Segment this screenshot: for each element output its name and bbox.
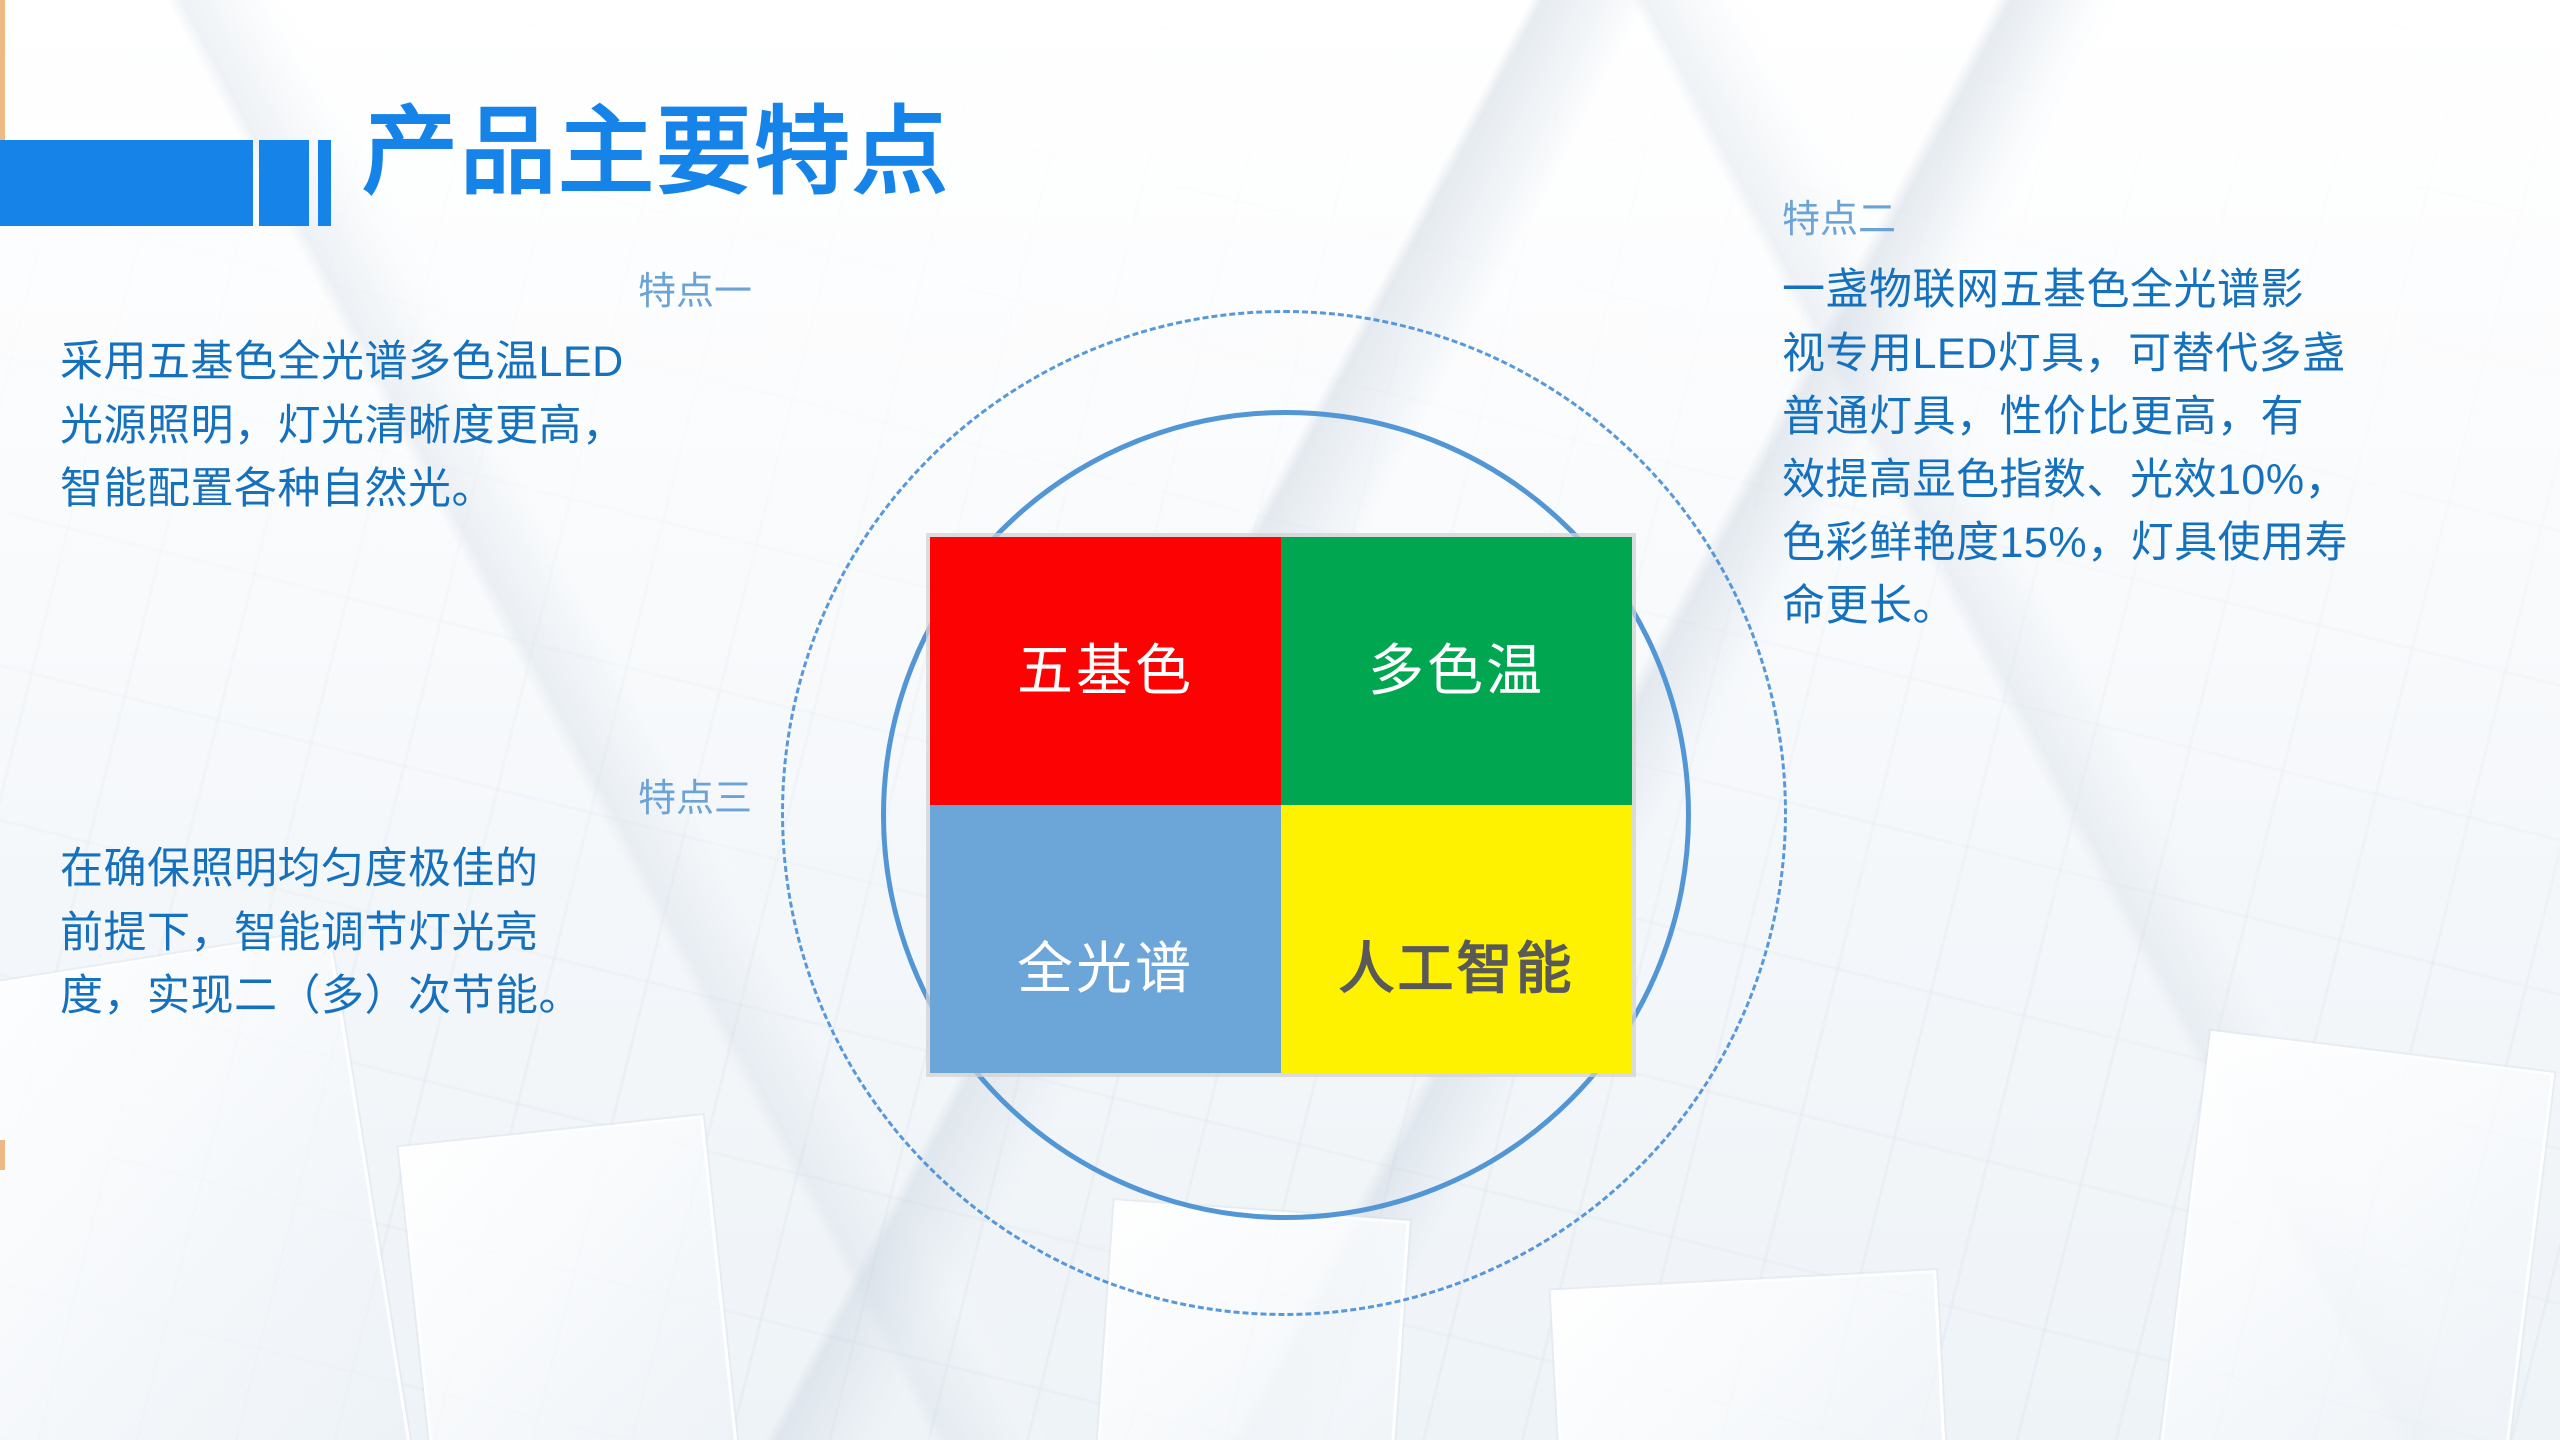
feature-two-line: 视专用LED灯具，可替代多盏	[1782, 323, 2542, 386]
feature-one-line: 智能配置各种自然光。	[60, 458, 760, 521]
quadrant-label: 多色温	[1368, 643, 1545, 699]
quadrant-label: 全光谱	[1017, 941, 1194, 1073]
background-window-shape-2	[399, 1115, 748, 1440]
feature-three-line: 前提下，智能调节灯光亮	[60, 902, 760, 965]
left-edge-accent-mark-2	[0, 1140, 5, 1170]
background-window-shape-5	[1551, 1270, 1956, 1440]
quadrant-grid: 五基色 多色温 全光谱 人工智能	[930, 537, 1632, 1073]
feature-three-label: 特点三	[60, 775, 760, 824]
feature-two-line: 效提高显色指数、光效10%，	[1782, 449, 2542, 512]
header-accent-block	[0, 140, 253, 226]
feature-block-two: 特点二 一盏物联网五基色全光谱影 视专用LED灯具，可替代多盏 普通灯具，性价比…	[1782, 196, 2542, 639]
quadrant-label: 五基色	[1017, 643, 1194, 699]
feature-one-line: 采用五基色全光谱多色温LED	[60, 331, 760, 394]
feature-block-one: 特点一 采用五基色全光谱多色温LED 光源照明，灯光清晰度更高， 智能配置各种自…	[60, 268, 760, 521]
quadrant-人工智能[interactable]: 人工智能	[1281, 805, 1632, 1073]
feature-two-line: 普通灯具，性价比更高，有	[1782, 386, 2542, 449]
feature-three-line: 在确保照明均匀度极佳的	[60, 838, 760, 901]
feature-two-line: 命更长。	[1782, 575, 2542, 638]
header-accent-bar-thin	[318, 140, 331, 226]
feature-three-line: 度，实现二（多）次节能。	[60, 965, 760, 1028]
quadrant-全光谱[interactable]: 全光谱	[930, 805, 1281, 1073]
feature-two-line: 色彩鲜艳度15%，灯具使用寿	[1782, 512, 2542, 575]
feature-two-line: 一盏物联网五基色全光谱影	[1782, 259, 2542, 322]
feature-two-label: 特点二	[1782, 196, 2542, 245]
quadrant-多色温[interactable]: 多色温	[1281, 537, 1632, 805]
feature-three-body: 在确保照明均匀度极佳的 前提下，智能调节灯光亮 度，实现二（多）次节能。	[60, 838, 760, 1028]
feature-one-label: 特点一	[60, 268, 760, 317]
background-window-shape-3	[1086, 1200, 1410, 1440]
inner-solid-circle	[881, 410, 1691, 1220]
background-window-shape-4	[2152, 1031, 2555, 1440]
outer-dashed-circle	[781, 310, 1787, 1316]
feature-block-three: 特点三 在确保照明均匀度极佳的 前提下，智能调节灯光亮 度，实现二（多）次节能。	[60, 775, 760, 1028]
header-accent-bar-wide	[259, 140, 309, 226]
feature-one-line: 光源照明，灯光清晰度更高，	[60, 395, 760, 458]
feature-one-body: 采用五基色全光谱多色温LED 光源照明，灯光清晰度更高， 智能配置各种自然光。	[60, 331, 760, 521]
slide-canvas: 产品主要特点 五基色 多色温 全光谱 人工智能 特点一 采用五基色全光谱多色温L…	[0, 0, 2560, 1440]
quadrant-五基色[interactable]: 五基色	[930, 537, 1281, 805]
page-title: 产品主要特点	[362, 98, 950, 208]
quadrant-label: 人工智能	[1339, 941, 1575, 1073]
feature-two-body: 一盏物联网五基色全光谱影 视专用LED灯具，可替代多盏 普通灯具，性价比更高，有…	[1782, 259, 2542, 638]
